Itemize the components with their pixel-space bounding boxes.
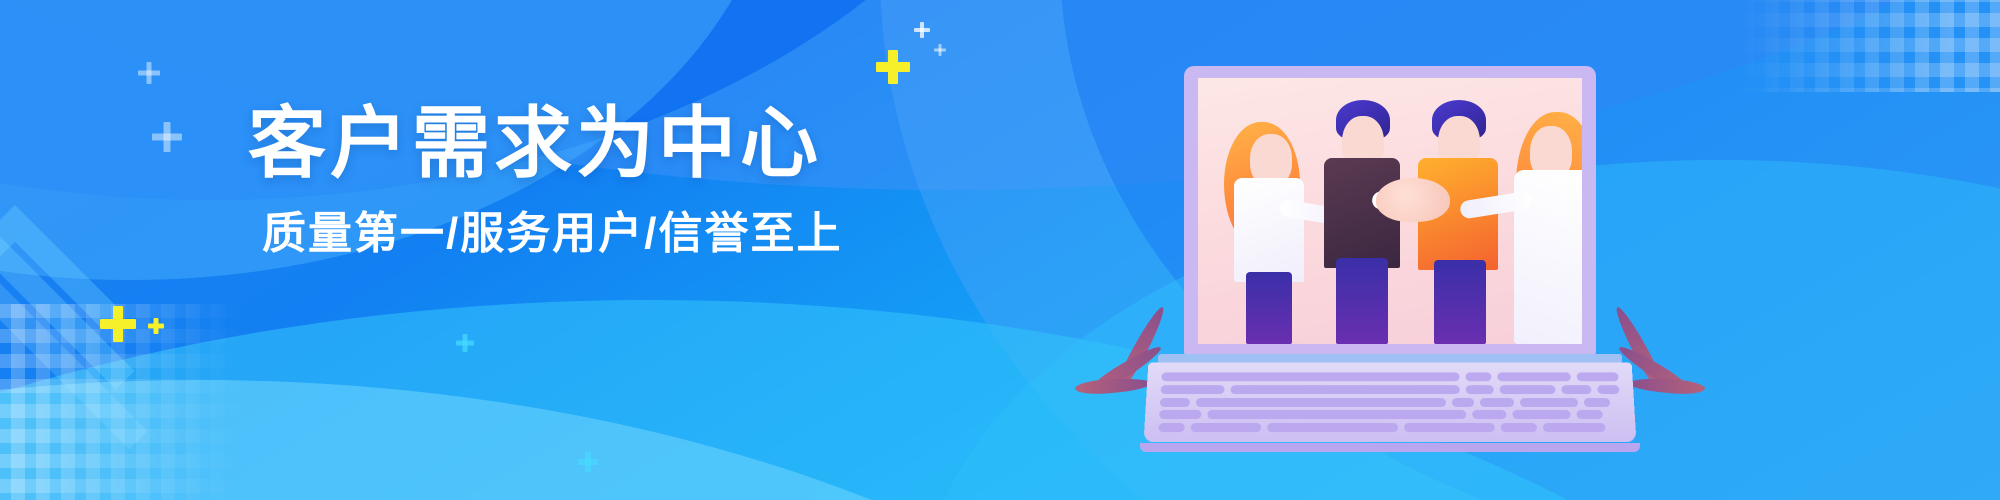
key — [1597, 385, 1619, 394]
legs — [1336, 258, 1388, 344]
key — [1561, 385, 1591, 394]
key — [1191, 423, 1262, 432]
chevron-arrow-1 — [0, 205, 121, 417]
headline-block: 客户需求为中心 质量第一/服务用户/信誉至上 — [248, 104, 848, 256]
key — [1196, 398, 1446, 407]
white-cross-top-2-icon — [934, 44, 946, 56]
key — [1207, 410, 1466, 419]
yellow-cross-small-icon — [148, 318, 164, 334]
laptop-screen — [1198, 78, 1582, 344]
legs — [1434, 260, 1486, 344]
square-grid-bottom-left — [0, 304, 256, 500]
key — [1160, 398, 1190, 407]
stacked-hands — [1376, 178, 1450, 222]
laptop-keyboard — [1144, 363, 1637, 443]
key — [1543, 423, 1606, 432]
laptop-lid — [1184, 66, 1596, 356]
key — [1577, 372, 1619, 381]
white-cross-medium-icon — [152, 122, 182, 152]
key — [1512, 410, 1571, 419]
chevron-arrow-3 — [0, 268, 148, 500]
laptop-foot — [1140, 443, 1640, 452]
key — [1159, 410, 1202, 419]
banner-subtitle: 质量第一/服务用户/信誉至上 — [262, 212, 848, 256]
key — [1480, 398, 1514, 407]
key — [1497, 372, 1571, 381]
key — [1472, 410, 1506, 419]
key — [1267, 423, 1398, 432]
wave-cyan-lower — [0, 300, 2000, 500]
keyboard-row — [1160, 385, 1619, 394]
legs — [1246, 272, 1292, 344]
key — [1404, 423, 1495, 432]
keyboard-row — [1159, 410, 1621, 419]
key — [1452, 398, 1474, 407]
keyboard-row — [1160, 398, 1621, 407]
laptop-base — [1140, 354, 1640, 450]
leaf-right-3 — [1629, 376, 1706, 395]
key — [1161, 372, 1459, 381]
yellow-cross-large-icon — [100, 306, 136, 342]
white-cross-top-1-icon — [914, 22, 930, 38]
cyan-cross-small-icon — [456, 334, 474, 352]
person-woman-left — [1220, 108, 1316, 344]
laptop-illustration — [1140, 52, 1640, 452]
chevron-arrow-2 — [0, 237, 134, 500]
key — [1576, 410, 1603, 419]
key — [1465, 372, 1491, 381]
key — [1158, 423, 1185, 432]
key — [1160, 385, 1224, 394]
torso — [1234, 178, 1304, 282]
banner-title: 客户需求为中心 — [248, 104, 848, 182]
key — [1584, 398, 1610, 407]
key — [1501, 423, 1538, 432]
white-cross-small-icon — [138, 62, 160, 84]
key — [1230, 385, 1460, 394]
key — [1520, 398, 1578, 407]
promo-banner: 客户需求为中心 质量第一/服务用户/信誉至上 — [0, 0, 2000, 500]
key — [1466, 385, 1494, 394]
person-woman-right — [1504, 100, 1582, 344]
key — [1500, 385, 1556, 394]
keyboard-row — [1158, 423, 1621, 432]
keyboard-row — [1161, 372, 1619, 381]
yellow-cross-top-icon — [876, 50, 910, 84]
square-grid-top-right — [1740, 0, 2000, 92]
cyan-cross-medium-icon — [578, 452, 598, 472]
